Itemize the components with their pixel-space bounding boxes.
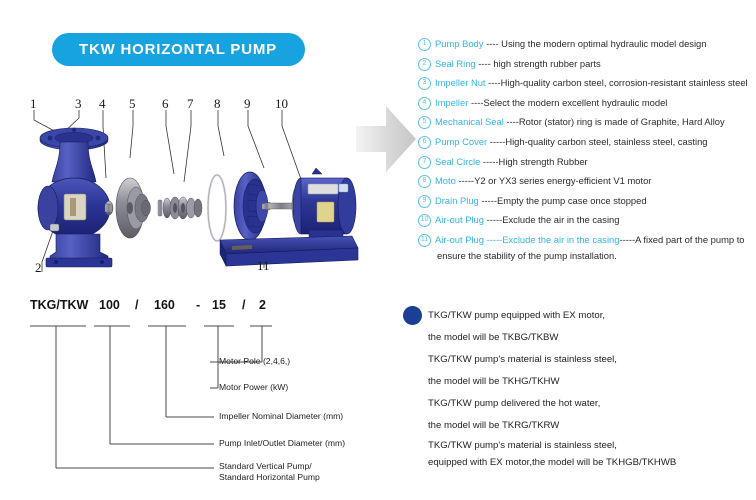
model-label-impeller-dia: Impeller Nominal Diameter (mm) — [219, 411, 343, 423]
legend-part-6: Pump Cover — [435, 136, 487, 147]
legend-desc-6: High-quality carbon steel, stainless ste… — [505, 136, 707, 147]
legend-desc-7: High strength Rubber — [499, 156, 588, 167]
legend-desc-2: high strength rubber parts — [493, 58, 600, 69]
callout-9: 9 — [244, 96, 251, 112]
page-title-banner: TKW HORIZONTAL PUMP — [52, 33, 305, 66]
callout-1: 1 — [30, 96, 37, 112]
legend-item-10: 10Air-out Plug -----Exclude the air in t… — [418, 210, 756, 230]
note-line-8: equipped with EX motor,the model will be… — [428, 454, 756, 471]
legend-number-9: 9 — [418, 195, 431, 208]
legend-number-3: 3 — [418, 77, 431, 90]
legend-desc-10: Exclude the air in the casing — [502, 214, 619, 225]
legend-item-8: 8Moto -----Y2 or YX3 series energy-effic… — [418, 171, 756, 191]
legend-desc-5: Rotor (stator) ring is made of Graphite,… — [519, 116, 725, 127]
callout-7: 7 — [187, 96, 194, 112]
note-line-2: the model will be TKBG/TKBW — [428, 327, 756, 349]
legend-part-1: Pump Body — [435, 38, 483, 49]
legend-part-2: Seal Ring — [435, 58, 476, 69]
note-line-3: TKG/TKW pump's material is stainless ste… — [428, 349, 756, 371]
legend-number-11: 11 — [418, 234, 431, 247]
callout-8: 8 — [214, 96, 221, 112]
pump-spec-sheet: TKW HORIZONTAL PUMP — [0, 0, 756, 500]
exploded-pump-diagram: 1 3 4 5 6 7 8 9 10 2 11 — [12, 96, 362, 286]
callout-2: 2 — [35, 260, 42, 276]
legend-desc-11: Exclude the air in the casing — [502, 234, 619, 245]
legend-item-9: 9Drain Plug -----Empty the pump case onc… — [418, 191, 756, 211]
legend-number-1: 1 — [418, 38, 431, 51]
legend-part-11: Air-out Plug — [435, 234, 484, 245]
pump-assembly-illustration — [12, 96, 362, 286]
model-label-inlet-outlet: Pump Inlet/Outlet Diameter (mm) — [219, 438, 345, 450]
parts-legend-list: 1Pump Body ---- Using the modern optimal… — [418, 34, 756, 262]
model-label-motor-power: Motor Power (kW) — [219, 382, 288, 394]
model-code-leader-lines — [14, 298, 386, 496]
note-line-6: the model will be TKRG/TKRW — [428, 415, 756, 437]
legend-item-6: 6Pump Cover -----High-quality carbon ste… — [418, 132, 756, 152]
legend-part-9: Drain Plug — [435, 195, 479, 206]
legend-part-4: Impeller — [435, 97, 468, 108]
callout-5: 5 — [129, 96, 136, 112]
legend-sep-5: ---- — [504, 116, 519, 127]
callout-3: 3 — [75, 96, 82, 112]
legend-sep-10: ----- — [484, 214, 502, 225]
legend-item-11: 11Air-out Plug -----Exclude the air in t… — [418, 230, 756, 250]
note-line-7: TKG/TKW pump's material is stainless ste… — [428, 437, 756, 454]
legend-sep-3: ---- — [486, 77, 501, 88]
model-label-standard-vert: Standard Vertical Pump/ — [219, 461, 312, 473]
legend-desc-tail-11: -----A fixed part of the pump to — [619, 234, 744, 245]
legend-desc-9: Empty the pump case once stopped — [497, 195, 647, 206]
legend-number-8: 8 — [418, 175, 431, 188]
legend-sep-6: ----- — [487, 136, 505, 147]
legend-desc-1: Using the modern optimal hydraulic model… — [501, 38, 706, 49]
legend-sep-4: ---- — [468, 97, 483, 108]
legend-number-7: 7 — [418, 156, 431, 169]
bullet-point-icon — [403, 306, 422, 325]
callout-10: 10 — [275, 96, 288, 112]
page-title: TKW HORIZONTAL PUMP — [79, 41, 277, 58]
legend-number-4: 4 — [418, 97, 431, 110]
legend-number-2: 2 — [418, 58, 431, 71]
legend-number-6: 6 — [418, 136, 431, 149]
legend-sep-11: ----- — [484, 234, 502, 245]
legend-item-3: 3Impeller Nut ----High-quality carbon st… — [418, 73, 756, 93]
legend-part-10: Air-out Plug — [435, 214, 484, 225]
legend-item-4: 4Impeller ----Select the modern excellen… — [418, 93, 756, 113]
legend-part-5: Mechanical Seal — [435, 116, 504, 127]
legend-desc-3: High-quality carbon steel, corrosion-res… — [501, 77, 748, 88]
legend-part-7: Seal Circle — [435, 156, 480, 167]
model-label-motor-pole: Motor Pole (2,4,6,) — [219, 356, 290, 368]
note-line-5: TKG/TKW pump delivered the hot water, — [428, 393, 756, 415]
model-code-breakdown: TKG/TKW 100 / 160 - 15 / 2 — [14, 298, 386, 496]
legend-sep-7: ----- — [480, 156, 498, 167]
legend-item-7: 7Seal Circle -----High strength Rubber — [418, 152, 756, 172]
model-label-standard-horiz: Standard Horizontal Pump — [219, 472, 320, 484]
legend-desc-8: Y2 or YX3 series energy-efficient V1 mot… — [474, 175, 651, 186]
legend-item-1: 1Pump Body ---- Using the modern optimal… — [418, 34, 756, 54]
legend-item-11-wrap: ensure the stability of the pump install… — [418, 250, 756, 262]
callout-11: 11 — [257, 258, 270, 274]
legend-sep-9: ----- — [479, 195, 497, 206]
legend-part-8: Moto — [435, 175, 456, 186]
right-arrow-icon — [356, 100, 418, 178]
legend-item-2: 2Seal Ring ---- high strength rubber par… — [418, 54, 756, 74]
callout-4: 4 — [99, 96, 106, 112]
legend-number-10: 10 — [418, 214, 431, 227]
callout-6: 6 — [162, 96, 169, 112]
legend-item-5: 5Mechanical Seal ----Rotor (stator) ring… — [418, 112, 756, 132]
legend-desc-4: Select the modern excellent hydraulic mo… — [483, 97, 667, 108]
legend-sep-8: ----- — [456, 175, 474, 186]
legend-number-5: 5 — [418, 116, 431, 129]
model-variant-notes: TKG/TKW pump equipped with EX motor, the… — [428, 305, 756, 471]
legend-part-3: Impeller Nut — [435, 77, 486, 88]
note-line-4: the model will be TKHG/TKHW — [428, 371, 756, 393]
note-line-1: TKG/TKW pump equipped with EX motor, — [428, 305, 756, 327]
legend-sep-1: ---- — [483, 38, 501, 49]
legend-sep-2: ---- — [476, 58, 494, 69]
